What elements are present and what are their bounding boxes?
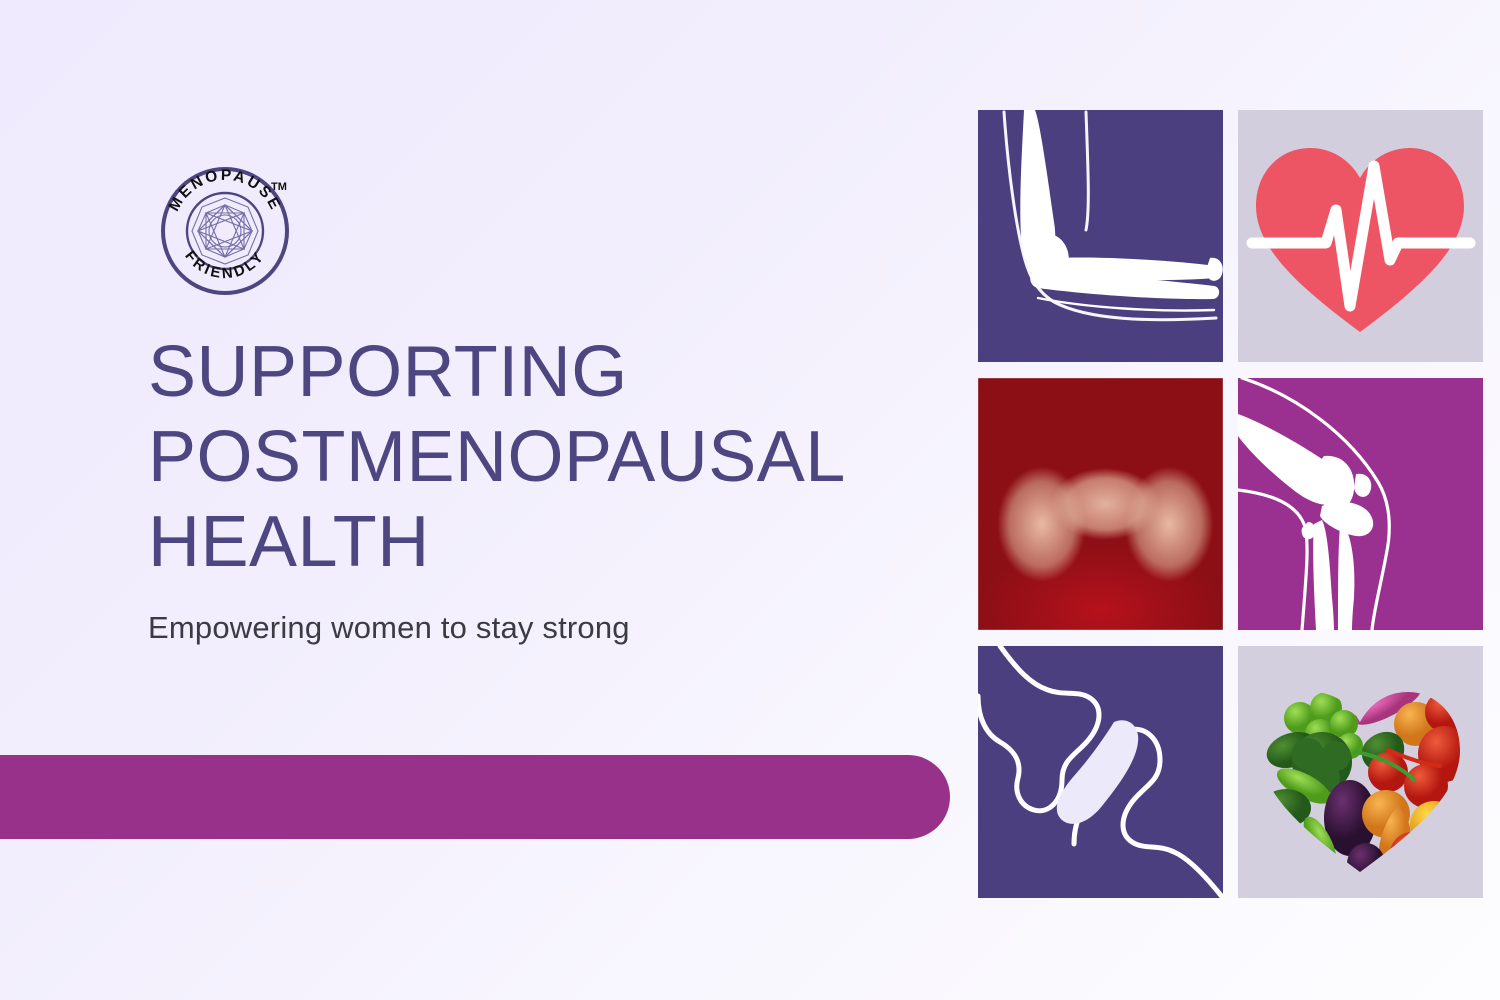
subtitle: Empowering women to stay strong — [148, 607, 630, 649]
photo-grid — [978, 110, 1483, 898]
accent-bar — [0, 755, 950, 839]
logo-trademark-symbol: TM — [271, 181, 287, 193]
photo-vegetable-heart — [1238, 646, 1483, 898]
heart-pulse-icon — [1238, 110, 1483, 362]
knee-joint-icon — [1238, 378, 1483, 630]
hip-joint-icon — [978, 646, 1223, 898]
headline-block: SUPPORTING POSTMENOPAUSAL HEALTH — [148, 330, 888, 585]
elbow-joint-icon — [978, 110, 1223, 362]
tile-hip-joint — [978, 646, 1223, 898]
left-content-column: MENOPAUSE FRIENDLY TM SUPPORTING POSTMEN… — [148, 0, 908, 1000]
tile-woman-heart-hands — [978, 378, 1223, 630]
svg-text:MENOPAUSE: MENOPAUSE — [166, 167, 285, 214]
menopause-friendly-logo: MENOPAUSE FRIENDLY TM — [154, 160, 296, 302]
tile-vegetable-heart — [1238, 646, 1483, 898]
svg-text:FRIENDLY: FRIENDLY — [181, 247, 268, 282]
slide-canvas: MENOPAUSE FRIENDLY TM SUPPORTING POSTMEN… — [0, 0, 1500, 1000]
photo-woman-heart-hands — [978, 378, 1223, 630]
logo-top-arc-text: MENOPAUSE — [166, 167, 285, 214]
tile-knee-joint — [1238, 378, 1483, 630]
tile-heart-pulse — [1238, 110, 1483, 362]
page-title: SUPPORTING POSTMENOPAUSAL HEALTH — [148, 330, 888, 585]
logo-bottom-arc-text: FRIENDLY — [181, 247, 268, 282]
tile-elbow-joint — [978, 110, 1223, 362]
